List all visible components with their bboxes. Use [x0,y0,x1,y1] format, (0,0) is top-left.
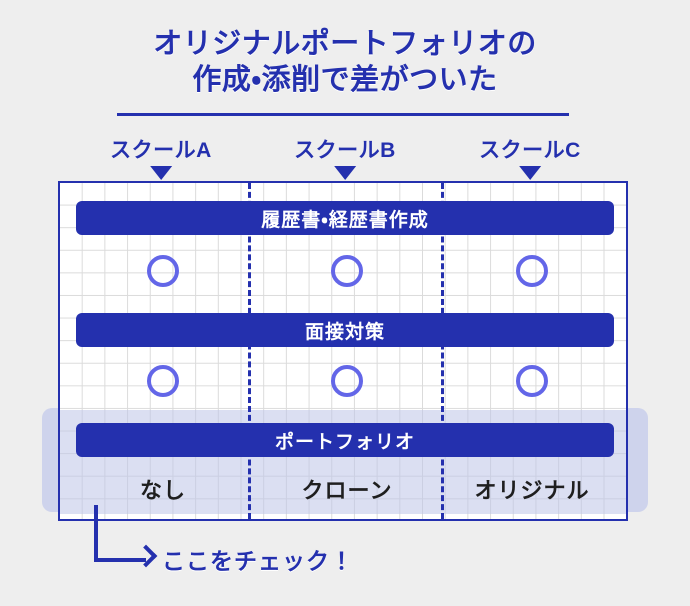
check-here-callout: ここをチェック！ [94,505,374,581]
page-title: オリジナルポートフォリオの 作成・添削で差がついた [0,26,690,98]
triangle-down-icon [334,166,356,180]
category-bar-portfolio-label: ポートフォリオ [275,427,415,454]
school-marker-b: スクールB [294,138,396,180]
category-bar-interview-label: 面接対策 [305,317,385,344]
title-underline [117,113,569,116]
category-bar-interview: 面接対策 [76,313,614,347]
category-bar-portfolio: ポートフォリオ [76,423,614,457]
value-portfolio-school-c: オリジナル [474,473,589,505]
mark-interview-school-c [516,365,548,397]
mark-resume-school-b [331,255,363,287]
school-marker-a: スクールA [110,138,212,180]
comparison-chart: 履歴書・経歴書作成 面接対策 ポートフォリオ なし クローン オリジナル [58,181,628,521]
school-marker-row: スクールA スクールB スクールC [0,138,690,186]
value-portfolio-school-a: なし [140,473,186,505]
category-bar-resume: 履歴書・経歴書作成 [76,201,614,235]
school-label-a: スクールA [110,138,212,164]
mark-resume-school-c [516,255,548,287]
school-marker-c: スクールC [479,138,581,180]
page-title-line-1: オリジナルポートフォリオの [0,26,690,62]
mark-interview-school-b [331,365,363,397]
page-title-line-2: 作成・添削で差がついた [0,62,690,98]
triangle-down-icon [150,166,172,180]
category-bar-resume-label: 履歴書・経歴書作成 [261,205,428,232]
school-label-c: スクールC [479,138,581,164]
school-label-b: スクールB [294,138,396,164]
value-portfolio-school-b: クローン [302,473,393,505]
mark-resume-school-a [147,255,179,287]
check-here-label: ここをチェック！ [162,542,354,576]
triangle-down-icon [519,166,541,180]
mark-interview-school-a [147,365,179,397]
